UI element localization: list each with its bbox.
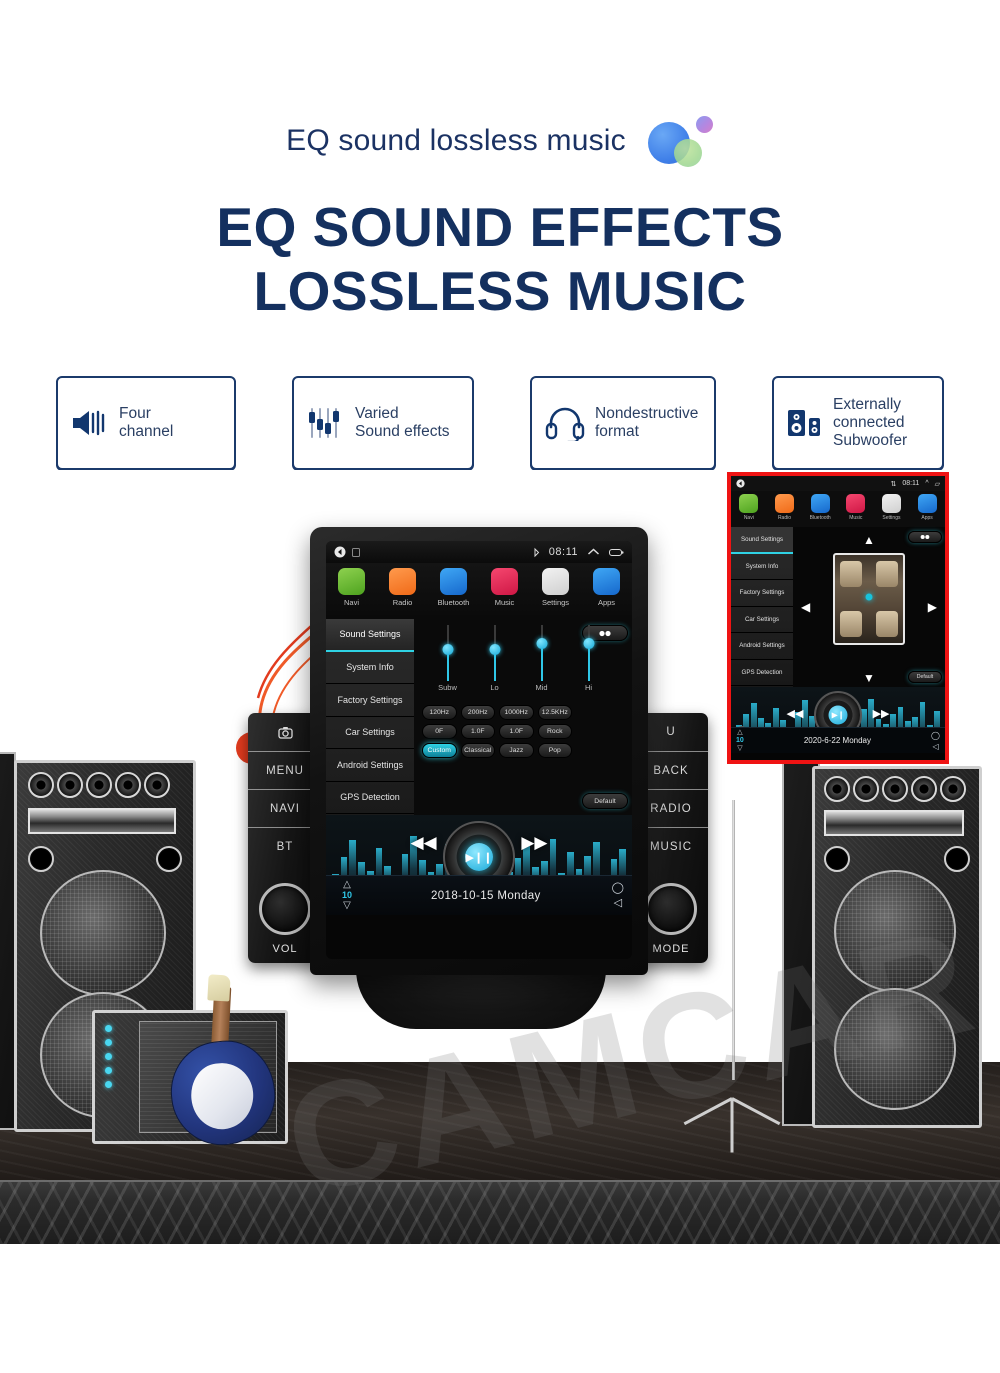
triangle-down-icon[interactable]: ▽: [343, 901, 351, 911]
sound-settings-panel: Sound Settings System Info Factory Setti…: [326, 619, 632, 815]
app-label: Music: [841, 515, 871, 521]
menu-item-sound-settings[interactable]: Sound Settings: [326, 619, 414, 652]
inset-app-bluetooth[interactable]: Bluetooth: [805, 494, 835, 527]
feature-box-row: Four channel Varied Sound effects: [0, 376, 1000, 470]
port-right: [156, 846, 182, 872]
car-head-unit: MENU NAVI BT VOL U BACK RADIO MUSIC MODE: [248, 527, 708, 1027]
menu-item-android-settings[interactable]: Android Settings: [326, 749, 414, 782]
app-label: Navi: [734, 515, 764, 521]
menu-item-car-settings[interactable]: Car Settings: [731, 607, 793, 634]
inset-statusbar-right: ⇅ 08:11 ^ ▱: [890, 480, 940, 488]
app-label: Apps: [912, 515, 942, 521]
gear-icon: [882, 494, 901, 513]
arrow-up-icon[interactable]: ▲: [863, 533, 875, 547]
feature-line-1: Nondestructive: [595, 405, 698, 423]
menu-item-system-info[interactable]: System Info: [326, 652, 414, 685]
feature-four-channel: Four channel: [56, 376, 236, 470]
eq-button-custom[interactable]: Custom: [422, 743, 457, 758]
next-track-icon[interactable]: ▶▶: [521, 833, 547, 853]
back-triangle-icon[interactable]: ◁: [932, 742, 938, 751]
battery-icon: ▱: [935, 480, 940, 488]
inset-balance-button[interactable]: [908, 531, 942, 543]
eq-button[interactable]: 1.0F: [461, 724, 496, 739]
app-label: Settings: [534, 598, 578, 607]
feature-line-2: connected: [833, 414, 907, 432]
app-music[interactable]: Music: [483, 568, 527, 607]
feature-external-subwoofer: Externally connected Subwoofer: [772, 376, 944, 470]
inset-default-button[interactable]: Default: [908, 671, 942, 683]
page-title: EQ SOUND EFFECTS LOSSLESS MUSIC: [0, 196, 1000, 324]
arrow-right-icon[interactable]: ▶: [928, 600, 937, 614]
inset-date-display: 2020-6-22 Monday: [804, 736, 871, 745]
stand-leg: [684, 1097, 733, 1125]
port-right: [944, 846, 970, 872]
menu-item-gps-detection[interactable]: GPS Detection: [731, 660, 793, 687]
eq-preset-grid: 120Hz 200Hz 1000Hz 12.5KHz 0F 1.0F 1.0F …: [418, 701, 628, 758]
arrow-left-icon[interactable]: ◀: [801, 600, 810, 614]
app-label: Bluetooth: [432, 598, 476, 607]
slider-label: Subw: [429, 683, 467, 692]
navi-pin-icon: [338, 568, 365, 595]
logo-circle-green: [674, 139, 702, 167]
music-note-icon: [846, 494, 865, 513]
inset-app-navi[interactable]: Navi: [734, 494, 764, 527]
eq-button[interactable]: 120Hz: [422, 705, 457, 720]
inset-volume-stepper[interactable]: △ 10 ▽: [736, 729, 744, 753]
volume-stepper[interactable]: △ 10 ▽: [334, 880, 360, 911]
eq-button[interactable]: Classical: [461, 743, 496, 758]
back-circle-icon[interactable]: [334, 546, 346, 558]
soundfield-positioner[interactable]: ▲ ▼ ◀ ▶ Default: [793, 527, 945, 687]
menu-item-car-settings[interactable]: Car Settings: [326, 717, 414, 750]
camera-icon: [278, 726, 293, 739]
sd-card-icon: [352, 548, 360, 557]
inset-app-apps[interactable]: Apps: [912, 494, 942, 527]
feature-nondestructive-format: Nondestructive format: [530, 376, 716, 470]
previous-track-icon[interactable]: ◀◀: [410, 833, 436, 853]
menu-item-sound-settings[interactable]: Sound Settings: [731, 527, 793, 554]
music-note-icon: [491, 568, 518, 595]
feature-line-1: Four: [119, 405, 173, 423]
subwoofer-speakers-icon: [786, 406, 824, 440]
three-circles-logo-icon: [644, 112, 714, 170]
default-button[interactable]: Default: [582, 793, 628, 809]
screen-statusbar: 08:11: [326, 541, 632, 563]
chevron-up-icon[interactable]: [587, 548, 600, 557]
apps-grid-icon: [918, 494, 937, 513]
menu-item-android-settings[interactable]: Android Settings: [731, 633, 793, 660]
app-label: Settings: [876, 515, 906, 521]
battery-icon: [609, 548, 624, 557]
balance-lr-icon: [918, 534, 932, 540]
eq-sliders: Subw Lo Mid: [418, 625, 628, 701]
feature-line-1: Externally: [833, 396, 907, 414]
triangle-down-icon[interactable]: ▽: [737, 745, 742, 753]
feature-varied-sound-effects: Varied Sound effects: [292, 376, 474, 470]
bluetooth-icon: [440, 568, 467, 595]
media-player: ▶❙❙ ◀◀ ▶▶ 🎧 △ 10 ▽ 2018-10-15 Monday: [326, 815, 632, 915]
hero-subtitle: EQ sound lossless music: [286, 124, 626, 158]
inset-soundfield-panel: Sound Settings System Info Factory Setti…: [731, 527, 945, 687]
slider-lo[interactable]: Lo: [476, 625, 514, 701]
feature-label: Externally connected Subwoofer: [833, 396, 907, 451]
inset-nav-buttons: ◯ ◁: [931, 731, 940, 751]
app-settings[interactable]: Settings: [534, 568, 578, 607]
feature-label: Nondestructive format: [595, 405, 698, 442]
slider-label: Mid: [523, 683, 561, 692]
hero-header: EQ sound lossless music EQ SOUND EFFECTS…: [0, 0, 1000, 355]
bluetooth-icon: ⇅: [890, 480, 896, 488]
right-tower-speaker: [812, 766, 982, 1128]
app-bluetooth[interactable]: Bluetooth: [432, 568, 476, 607]
led-indicators: [105, 1025, 112, 1088]
inset-statusbar: ⇅ 08:11 ^ ▱: [731, 476, 945, 491]
triangle-up-icon[interactable]: △: [343, 880, 351, 890]
stand-leg: [731, 1097, 780, 1125]
eq-button[interactable]: Rock: [538, 724, 573, 739]
feature-line-2: Sound effects: [355, 423, 450, 441]
menu-item-gps-detection[interactable]: GPS Detection: [326, 782, 414, 815]
seat-rear-left: [840, 611, 862, 637]
feature-line-2: format: [595, 423, 698, 441]
equalizer-controls: Default Subw Lo: [414, 619, 632, 815]
inset-settings-menu: Sound Settings System Info Factory Setti…: [731, 527, 793, 687]
apps-grid-icon: [593, 568, 620, 595]
date-display: 2018-10-15 Monday: [431, 890, 541, 902]
port-left: [824, 846, 850, 872]
app-navi[interactable]: Navi: [330, 568, 374, 607]
app-label: Navi: [330, 598, 374, 607]
menu-item-factory-settings[interactable]: Factory Settings: [326, 684, 414, 717]
radio-icon: [775, 494, 794, 513]
headphones-icon: [544, 405, 586, 441]
menu-item-system-info[interactable]: System Info: [731, 554, 793, 581]
transport-controls: ◀◀ ▶▶: [326, 833, 632, 853]
eq-button[interactable]: 12.5KHz: [538, 705, 573, 720]
bluetooth-icon: [811, 494, 830, 513]
app-apps[interactable]: Apps: [585, 568, 629, 607]
tweeter-array: [824, 776, 966, 802]
head-unit-screen[interactable]: 08:11 Navi Radio: [326, 541, 632, 959]
eq-button[interactable]: 200Hz: [461, 705, 496, 720]
home-circle-icon[interactable]: ◯: [612, 883, 624, 894]
previous-track-icon[interactable]: ◀◀: [786, 707, 803, 720]
nav-buttons: ◯ ◁: [612, 883, 624, 909]
feature-line-2: channel: [119, 423, 173, 441]
app-label: Radio: [769, 515, 799, 521]
inset-clock: 08:11: [902, 480, 919, 487]
volume-knob[interactable]: [259, 883, 311, 935]
title-line-1: EQ SOUND EFFECTS: [0, 196, 1000, 260]
app-label: Apps: [585, 598, 629, 607]
screen-navbar: △ 10 ▽ 2018-10-15 Monday ◯ ◁: [326, 875, 632, 915]
back-triangle-icon[interactable]: ◁: [614, 898, 622, 909]
stage-floor-diamond-plate: [0, 1180, 1000, 1244]
sound-position-dot[interactable]: [866, 594, 873, 601]
feature-label: Varied Sound effects: [355, 405, 450, 442]
settings-menu: Sound Settings System Info Factory Setti…: [326, 619, 414, 815]
horn-driver: [28, 808, 176, 834]
next-track-icon[interactable]: ▶▶: [873, 707, 890, 720]
soundfield-inset-screenshot: ⇅ 08:11 ^ ▱ Navi Radio Bluetooth Music: [727, 472, 949, 764]
slider-label: Lo: [476, 683, 514, 692]
port-left: [28, 846, 54, 872]
app-label: Radio: [381, 598, 425, 607]
eq-button[interactable]: 1.0F: [499, 724, 534, 739]
app-label: Bluetooth: [805, 515, 835, 521]
menu-item-factory-settings[interactable]: Factory Settings: [731, 580, 793, 607]
eq-button[interactable]: Pop: [538, 743, 573, 758]
statusbar-right: 08:11: [533, 546, 624, 558]
navi-pin-icon: [739, 494, 758, 513]
car-seat-diagram: [833, 553, 905, 645]
inset-app-music[interactable]: Music: [841, 494, 871, 527]
slider-subw[interactable]: Subw: [429, 625, 467, 701]
status-clock: 08:11: [549, 546, 578, 558]
seat-rear-right: [876, 611, 898, 637]
slider-mid[interactable]: Mid: [523, 625, 561, 701]
inset-media-player: ▶❙ ◀◀ ▶▶ 🎧 △ 10 ▽ 2020-6-22 Monday ◯ ◁: [731, 687, 945, 753]
slider-hi[interactable]: Hi: [570, 625, 608, 701]
back-circle-icon: [736, 479, 745, 488]
mode-knob[interactable]: [645, 883, 697, 935]
radio-icon: [389, 568, 416, 595]
home-circle-icon[interactable]: ◯: [931, 731, 940, 740]
slider-label: Hi: [570, 683, 608, 692]
eq-button[interactable]: 0F: [422, 724, 457, 739]
seat-front-right: [876, 561, 898, 587]
screen-app-bar: Navi Radio Bluetooth Music Settings: [326, 563, 632, 619]
title-line-2: LOSSLESS MUSIC: [0, 260, 1000, 324]
chevron-up-icon: ^: [925, 480, 928, 487]
inset-transport-controls: ◀◀ ▶▶: [731, 707, 945, 720]
gear-icon: [542, 568, 569, 595]
woofer-upper: [40, 870, 166, 996]
equalizer-sliders-icon: [306, 406, 346, 440]
stand-leg: [731, 1099, 734, 1153]
inset-app-bar: Navi Radio Bluetooth Music Settings Apps: [731, 491, 945, 527]
stand-pole: [732, 800, 735, 1080]
app-radio[interactable]: Radio: [381, 568, 425, 607]
inset-navbar: △ 10 ▽ 2020-6-22 Monday ◯ ◁: [731, 727, 945, 753]
inset-app-radio[interactable]: Radio: [769, 494, 799, 527]
triangle-up-icon[interactable]: △: [737, 729, 742, 737]
eq-button[interactable]: 1000Hz: [499, 705, 534, 720]
product-photo-stage: MENU NAVI BT VOL U BACK RADIO MUSIC MODE: [0, 470, 1000, 1244]
arrow-down-icon[interactable]: ▼: [863, 671, 875, 685]
feature-line-1: Varied: [355, 405, 450, 423]
speaker-waves-icon: [70, 406, 110, 440]
eq-button[interactable]: Jazz: [499, 743, 534, 758]
woofer-lower: [834, 988, 956, 1110]
inset-volume-value: 10: [736, 737, 744, 745]
subtitle-row: EQ sound lossless music: [0, 112, 1000, 170]
app-label: Music: [483, 598, 527, 607]
bluetooth-icon: [533, 547, 540, 558]
feature-line-3: Subwoofer: [833, 432, 907, 450]
tweeter-array: [28, 772, 170, 798]
horn-driver: [824, 810, 964, 836]
feature-label: Four channel: [119, 405, 173, 442]
seat-front-left: [840, 561, 862, 587]
woofer-upper: [834, 870, 956, 992]
inset-app-settings[interactable]: Settings: [876, 494, 906, 527]
logo-circle-purple: [696, 116, 713, 133]
guitar-headstock: [207, 974, 230, 1001]
